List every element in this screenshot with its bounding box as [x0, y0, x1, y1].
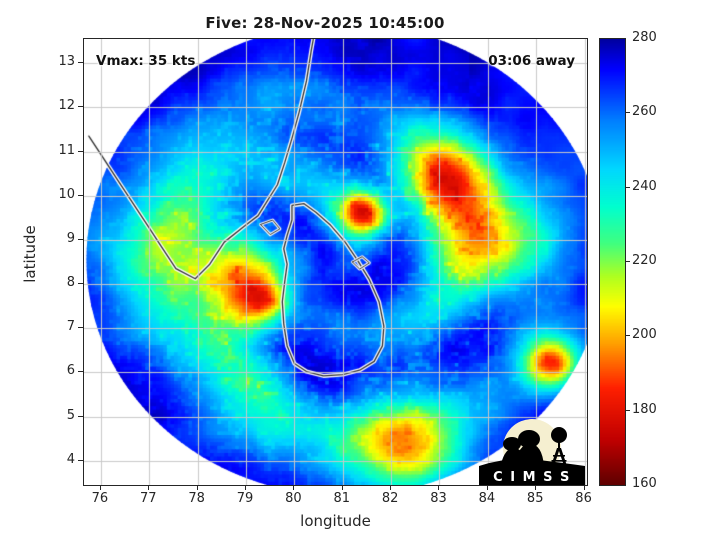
colorbar-tick-label: 200 — [632, 328, 672, 341]
x-tick-label: 77 — [128, 492, 168, 505]
satellite-plot-page: Five: 28-Nov-2025 10:45:00 Vmax: 35 kts … — [0, 0, 720, 540]
y-tick-label: 4 — [45, 453, 75, 466]
colorbar-tick-label: 260 — [632, 105, 672, 118]
y-tick-label: 11 — [45, 144, 75, 157]
x-tick-label: 82 — [370, 492, 410, 505]
x-tick — [438, 485, 439, 490]
x-tick — [293, 485, 294, 490]
y-tick — [78, 195, 83, 196]
x-tick-label: 76 — [80, 492, 120, 505]
y-tick — [78, 416, 83, 417]
vmax-label: Vmax: 35 kts — [96, 53, 195, 69]
y-tick — [78, 62, 83, 63]
logo-text: C I M S S — [493, 470, 571, 485]
y-axis-title: latitude — [21, 199, 39, 309]
y-tick — [78, 371, 83, 372]
colorbar-tick-label: 160 — [632, 477, 672, 490]
colorbar-tick — [625, 261, 630, 262]
colorbar-tick-label: 280 — [632, 31, 672, 44]
y-tick — [78, 151, 83, 152]
y-tick — [78, 239, 83, 240]
colorbar-tick — [625, 335, 630, 336]
colorbar-tick — [625, 410, 630, 411]
y-tick-label: 8 — [45, 276, 75, 289]
colorbar-tick-label: 180 — [632, 403, 672, 416]
x-tick — [245, 485, 246, 490]
colorbar-tick — [625, 187, 630, 188]
x-tick — [390, 485, 391, 490]
colorbar-gradient — [600, 39, 625, 485]
x-tick — [342, 485, 343, 490]
y-tick — [78, 106, 83, 107]
y-tick-label: 6 — [45, 364, 75, 377]
x-tick-label: 85 — [515, 492, 555, 505]
x-tick — [535, 485, 536, 490]
x-tick — [487, 485, 488, 490]
x-tick-label: 86 — [564, 492, 604, 505]
x-tick — [584, 485, 585, 490]
x-tick-label: 78 — [177, 492, 217, 505]
x-tick-label: 79 — [225, 492, 265, 505]
y-tick-label: 7 — [45, 320, 75, 333]
x-axis-title: longitude — [83, 512, 588, 530]
x-tick-label: 81 — [322, 492, 362, 505]
y-tick-label: 12 — [45, 99, 75, 112]
x-tick — [100, 485, 101, 490]
x-tick-label: 83 — [418, 492, 458, 505]
y-tick — [78, 283, 83, 284]
x-tick — [197, 485, 198, 490]
y-tick-label: 9 — [45, 232, 75, 245]
colorbar-tick-label: 240 — [632, 180, 672, 193]
x-tick-label: 84 — [467, 492, 507, 505]
colorbar — [599, 38, 626, 486]
y-tick-label: 13 — [45, 55, 75, 68]
time-away-label: 03:06 away — [488, 53, 575, 69]
x-tick-label: 80 — [273, 492, 313, 505]
y-tick — [78, 460, 83, 461]
page-title: Five: 28-Nov-2025 10:45:00 — [0, 14, 650, 32]
cimss-logo: C I M S S — [479, 418, 585, 485]
colorbar-tick — [625, 112, 630, 113]
y-tick-label: 10 — [45, 188, 75, 201]
y-tick — [78, 327, 83, 328]
x-tick — [148, 485, 149, 490]
colorbar-tick-label: 220 — [632, 254, 672, 267]
y-tick-label: 5 — [45, 409, 75, 422]
